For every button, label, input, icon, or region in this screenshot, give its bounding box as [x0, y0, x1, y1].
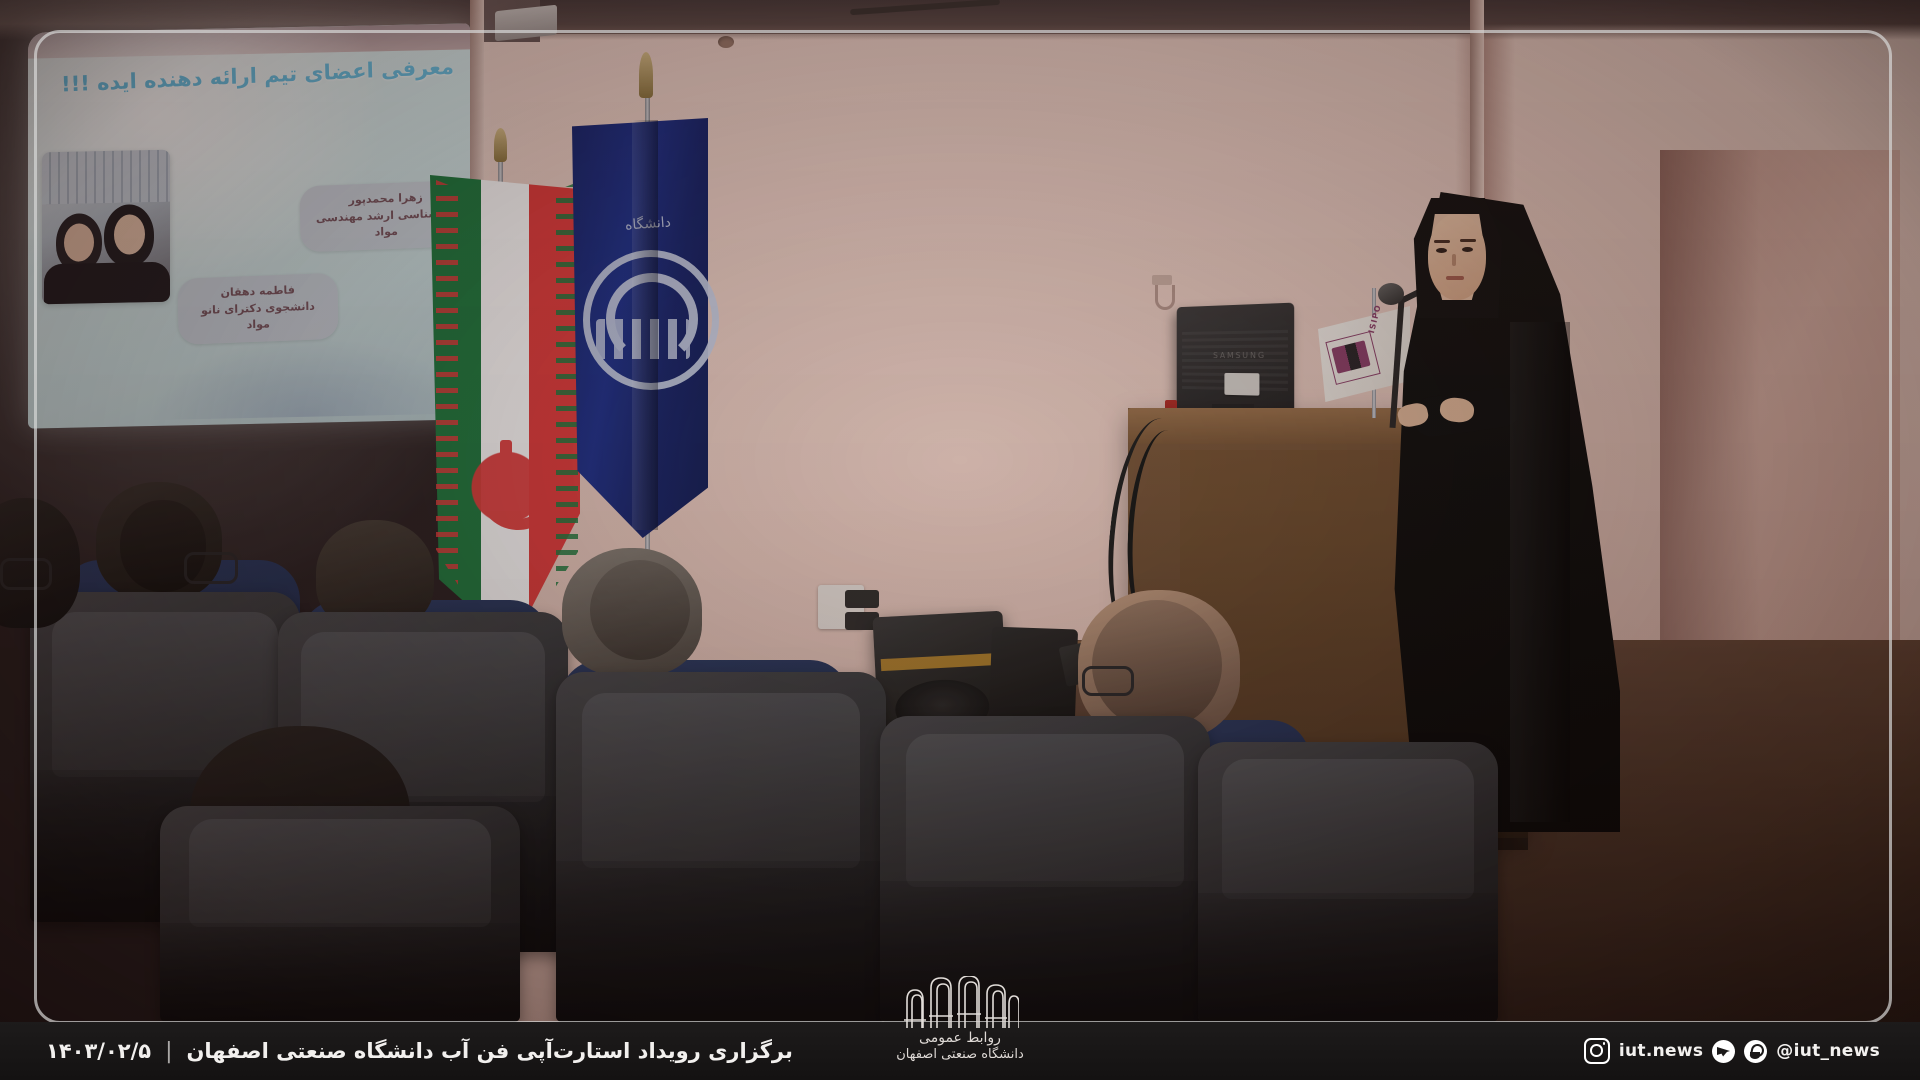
wall-hook-icon [1155, 285, 1175, 310]
seat-3-pad [582, 693, 859, 868]
speaker-cabinet-band [881, 653, 999, 671]
telegram-icon[interactable] [1712, 1040, 1735, 1063]
audience-member-4-glasses-icon [1082, 666, 1134, 696]
slide-bottom-graphic [148, 333, 468, 420]
wall-niche-shadow [1660, 150, 1760, 670]
presenter-mouth [1446, 276, 1464, 280]
wall-plug-upper [845, 590, 879, 608]
seat-4-pad [906, 734, 1183, 887]
event-title: برگزاری رویداد استارت‌آپی فن آب دانشگاه … [186, 1039, 792, 1063]
auditorium-seat-5 [1198, 742, 1498, 1022]
auditorium-seat-3 [556, 672, 886, 1022]
presenter-nose [1452, 254, 1456, 266]
event-photograph: معرفی اعضای تیم ارائه دهنده ایده !!! زهر… [0, 0, 1920, 1022]
pr-line-2: دانشگاه صنعتی اصفهان [830, 1047, 1090, 1062]
seat-5-back [1198, 893, 1498, 1022]
monitor-brand-label: SAMSUNG [1213, 351, 1266, 360]
footer-bar: برگزاری رویداد استارت‌آپی فن آب دانشگاه … [0, 1022, 1920, 1080]
seat-5-pad [1222, 759, 1474, 899]
seat-6-pad [189, 819, 491, 927]
slide-photo-background [42, 150, 170, 205]
monitor-sticker [1224, 373, 1259, 396]
auditorium-seat-6 [160, 806, 520, 1022]
seat-6-back [160, 923, 520, 1022]
slide-bubble-2-role: دانشجوی دکترای نانو مواد [188, 298, 329, 336]
iran-emblem-icon [470, 440, 544, 526]
projection-screen: معرفی اعضای تیم ارائه دهنده ایده !!! زهر… [28, 23, 470, 428]
slide-bubble-member-2: فاطمه دهقان دانشجوی دکترای نانو مواد [177, 273, 338, 345]
bale-icon[interactable] [1744, 1040, 1767, 1063]
social-links-group: iut.news @iut_news [1584, 1022, 1880, 1080]
iut-flag-finial [639, 52, 653, 98]
slide-photo-bodies [44, 262, 170, 305]
instagram-handle[interactable]: iut.news [1619, 1041, 1703, 1061]
audience-member-2-glasses-icon [184, 552, 238, 584]
audience-member-3-hair [590, 560, 690, 660]
presenter-brow-left [1434, 240, 1450, 243]
pr-line-1: روابط عمومی [830, 1030, 1090, 1046]
podium-monitor: SAMSUNG [1177, 303, 1294, 418]
presenter-brow-right [1460, 239, 1476, 242]
slide-team-photo [42, 150, 170, 305]
audience-member-0-glasses-icon [0, 558, 52, 590]
audience-member-4-hair [1092, 600, 1222, 730]
iran-flag-finial [494, 128, 507, 162]
presenter-face [1428, 214, 1486, 300]
footer-caption-group: برگزاری رویداد استارت‌آپی فن آب دانشگاه … [46, 1022, 793, 1080]
presenter-chador-fold [1510, 322, 1570, 822]
event-date: ۱۴۰۳/۰۲/۵ [46, 1039, 151, 1063]
public-relations-branding: روابط عمومی دانشگاه صنعتی اصفهان [830, 976, 1090, 1062]
instagram-icon[interactable] [1584, 1038, 1610, 1064]
caption-separator: | [165, 1039, 172, 1064]
presenter-eye-right [1462, 247, 1473, 252]
iran-flag-kufic-green [436, 180, 458, 620]
messenger-handle[interactable]: @iut_news [1776, 1041, 1880, 1061]
presenter-eye-left [1436, 248, 1447, 253]
wall-bracket [1152, 275, 1172, 285]
wall-hole [718, 36, 734, 48]
iut-flag-fold [632, 120, 658, 530]
presenter [1390, 192, 1620, 832]
news-photo-card: معرفی اعضای تیم ارائه دهنده ایده !!! زهر… [0, 0, 1920, 1080]
iut-arches-logo-icon [901, 976, 1019, 1028]
